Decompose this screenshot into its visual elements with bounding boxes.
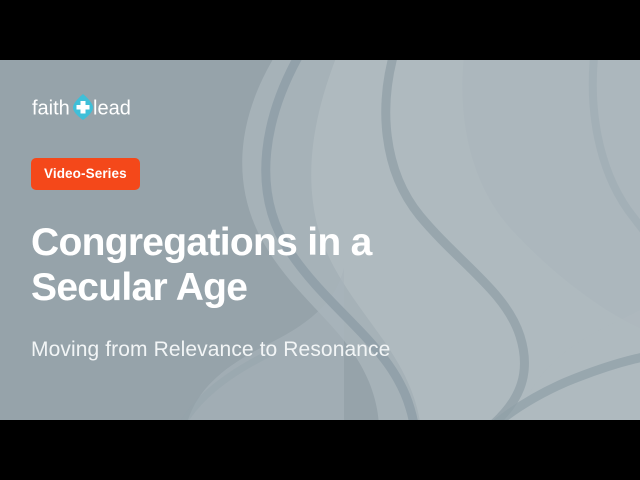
letterbox-bar-top — [0, 0, 640, 60]
video-series-badge: Video-Series — [31, 158, 140, 190]
video-title-card: faith lead Video-Series Congregations in… — [0, 0, 640, 480]
page-subtitle: Moving from Relevance to Resonance — [31, 336, 610, 363]
slide-canvas: faith lead Video-Series Congregations in… — [0, 60, 640, 420]
logo-text-lead: lead — [93, 98, 131, 120]
page-title: Congregations in a Secular Age — [31, 220, 451, 310]
plus-horizontal-icon — [77, 105, 90, 110]
logo-text-faith: faith — [32, 98, 70, 120]
brand-logo[interactable]: faith lead — [31, 92, 151, 122]
slide-content: faith lead Video-Series Congregations in… — [0, 60, 640, 420]
badge-row: Video-Series — [31, 158, 610, 190]
faith-lead-logo-icon: faith lead — [31, 92, 149, 122]
letterbox-bar-bottom — [0, 420, 640, 480]
